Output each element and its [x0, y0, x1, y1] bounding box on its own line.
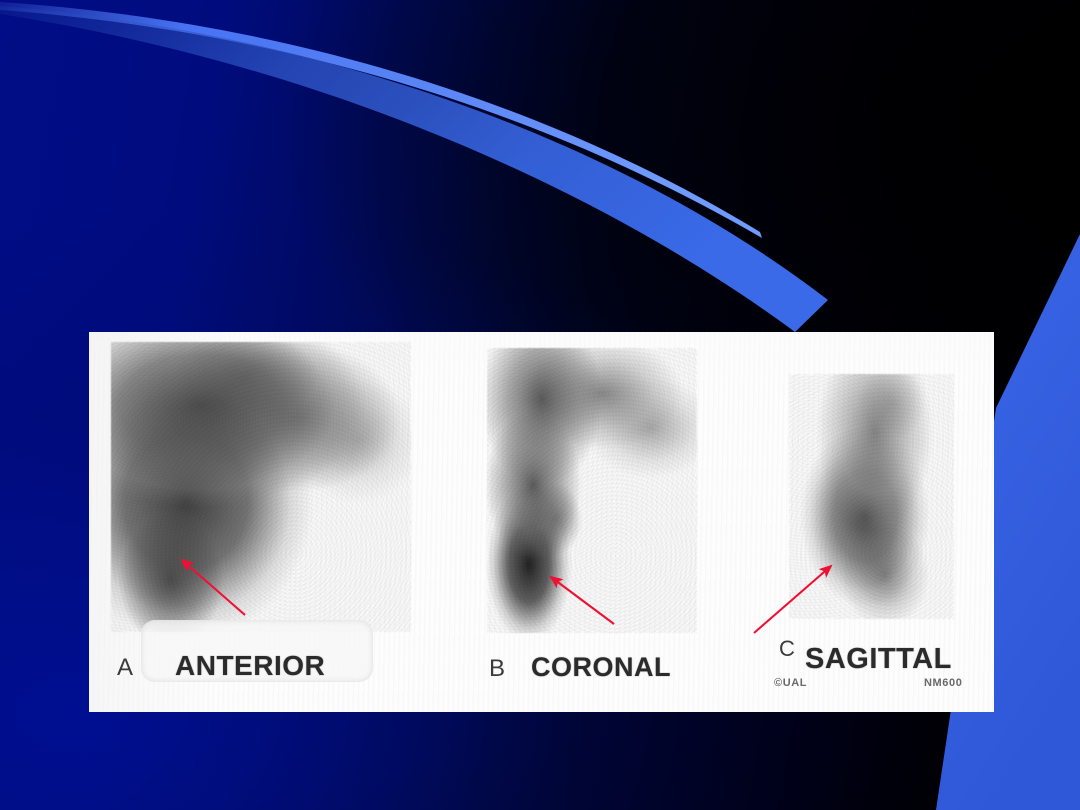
coronal-liver-uptake [487, 348, 697, 633]
panel-label-coronal: CORONAL [531, 652, 671, 683]
swoosh-wedge [0, 6, 828, 332]
panel-label-anterior: ANTERIOR [175, 650, 325, 682]
panel-label-sagittal: SAGITTAL [805, 643, 952, 676]
sagittal-liver-uptake [789, 374, 954, 619]
anterior-liver-uptake [111, 342, 411, 632]
coronal-scintigram-image [487, 348, 697, 633]
sagittal-scintigram-image [789, 374, 954, 619]
anterior-scintigram-image [111, 342, 411, 632]
scan-copyright-text: ©UAL [774, 677, 807, 689]
panel-letter-b: B [489, 655, 506, 683]
presentation-slide: A ANTERIOR B CORONAL C SAGITTAL ©UAL NM6… [0, 0, 1080, 810]
panel-letter-c: C [779, 636, 795, 662]
panel-letter-a: A [117, 654, 134, 682]
liver-scan-image-panel: A ANTERIOR B CORONAL C SAGITTAL ©UAL NM6… [89, 332, 994, 712]
scanner-model-text: NM600 [924, 677, 962, 689]
